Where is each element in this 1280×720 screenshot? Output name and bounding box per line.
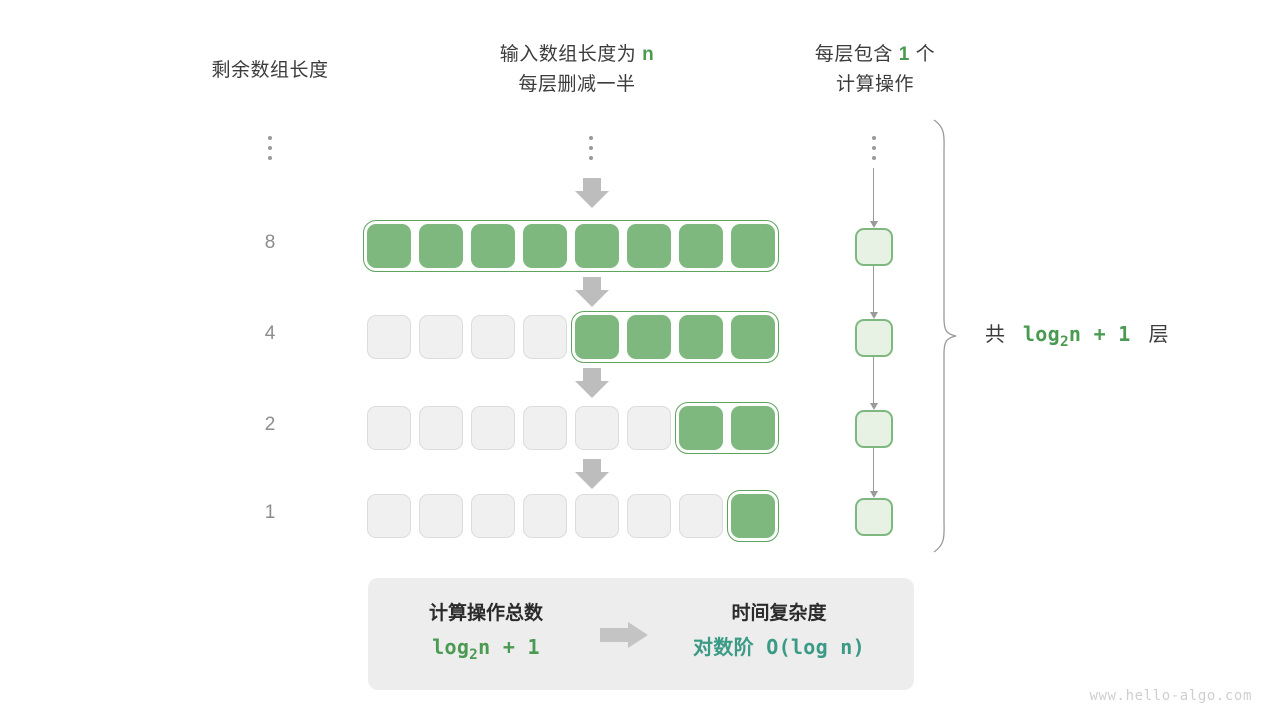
op-flow-arrow-icon xyxy=(868,266,880,319)
array-cell-inactive xyxy=(419,406,463,450)
caption-ops-per-level-line1: 每层包含 1 个 xyxy=(770,40,980,70)
total-levels-formula: log2n + 1 xyxy=(1011,322,1143,346)
caption-ops-highlight: 1 xyxy=(899,44,910,65)
total-levels-prefix: 共 xyxy=(985,324,1005,346)
op-flow-arrow-icon xyxy=(868,168,880,228)
array-cell-inactive xyxy=(471,494,515,538)
active-subarray-outline xyxy=(675,402,779,454)
array-cell-inactive xyxy=(523,406,567,450)
active-subarray-outline xyxy=(727,490,779,542)
right-arrow-icon xyxy=(600,622,656,648)
summary-ops-base: 2 xyxy=(469,647,478,663)
caption-ops-per-level: 每层包含 1 个 计算操作 xyxy=(770,40,980,100)
operation-box xyxy=(855,410,893,448)
levels-brace xyxy=(930,118,964,559)
operation-box xyxy=(855,319,893,357)
summary-operations-title: 计算操作总数 xyxy=(386,600,586,628)
halving-arrow-icon xyxy=(575,178,609,208)
array-cell-inactive xyxy=(367,406,411,450)
halving-arrow-icon xyxy=(575,368,609,398)
summary-operations-column: 计算操作总数 log2n + 1 xyxy=(386,600,586,674)
site-watermark: www.hello-algo.com xyxy=(1089,688,1252,704)
caption-input-length-highlight: n xyxy=(642,44,654,65)
array-cell-inactive xyxy=(367,315,411,359)
caption-remaining-length: 剩余数组长度 xyxy=(160,56,380,86)
op-flow-arrow-icon xyxy=(868,357,880,410)
array-cell-inactive xyxy=(679,494,723,538)
array-cell-inactive xyxy=(419,494,463,538)
caption-ops-prefix: 每层包含 xyxy=(815,44,893,65)
operation-box xyxy=(855,228,893,266)
summary-complexity-column: 时间复杂度 对数阶 O(log n) xyxy=(660,600,898,666)
level-label-8: 8 xyxy=(250,232,290,254)
operation-box xyxy=(855,498,893,536)
total-formula-base: 2 xyxy=(1060,334,1069,350)
summary-ops-log: log xyxy=(432,635,469,659)
op-flow-arrow-icon xyxy=(868,448,880,498)
array-cell-inactive xyxy=(471,406,515,450)
array-cell-inactive xyxy=(419,315,463,359)
active-subarray-outline xyxy=(363,220,779,272)
summary-operations-value: log2n + 1 xyxy=(386,628,586,674)
array-cell-inactive xyxy=(471,315,515,359)
caption-input-length-line1: 输入数组长度为 n xyxy=(452,40,702,70)
array-cell-inactive xyxy=(367,494,411,538)
array-cell-inactive xyxy=(627,494,671,538)
caption-remaining-length-text: 剩余数组长度 xyxy=(211,60,328,81)
total-formula-rest: n + 1 xyxy=(1069,322,1131,346)
array-row-ellipsis xyxy=(589,136,595,166)
caption-ops-postfix: 个 xyxy=(916,44,936,65)
array-cell-inactive xyxy=(575,494,619,538)
array-cell-inactive xyxy=(523,315,567,359)
caption-input-length: 输入数组长度为 n 每层删减一半 xyxy=(452,40,702,100)
op-column-ellipsis xyxy=(872,136,878,166)
array-cell-inactive xyxy=(575,406,619,450)
array-row-4 xyxy=(363,311,779,363)
level-label-1: 1 xyxy=(250,502,290,524)
caption-ops-per-level-line2: 计算操作 xyxy=(770,70,980,100)
caption-input-length-prefix: 输入数组长度为 xyxy=(500,44,637,65)
halving-arrow-icon xyxy=(575,459,609,489)
total-levels-suffix: 层 xyxy=(1149,324,1169,346)
total-levels-label: 共 log2n + 1 层 xyxy=(985,318,1169,350)
array-row-2 xyxy=(363,402,779,454)
array-row-8 xyxy=(363,220,779,272)
summary-ops-rest: n + 1 xyxy=(478,635,540,659)
active-subarray-outline xyxy=(571,311,779,363)
level-label-ellipsis xyxy=(268,136,274,166)
array-cell-inactive xyxy=(523,494,567,538)
total-formula-log: log xyxy=(1023,322,1060,346)
halving-arrow-icon xyxy=(575,277,609,307)
summary-complexity-value: 对数阶 O(log n) xyxy=(660,628,898,666)
level-label-2: 2 xyxy=(250,414,290,436)
level-label-4: 4 xyxy=(250,323,290,345)
caption-input-length-line2: 每层删减一半 xyxy=(452,70,702,100)
summary-complexity-title: 时间复杂度 xyxy=(660,600,898,628)
summary-panel: 计算操作总数 log2n + 1 时间复杂度 对数阶 O(log n) xyxy=(368,578,914,690)
array-cell-inactive xyxy=(627,406,671,450)
array-row-1 xyxy=(363,490,779,542)
